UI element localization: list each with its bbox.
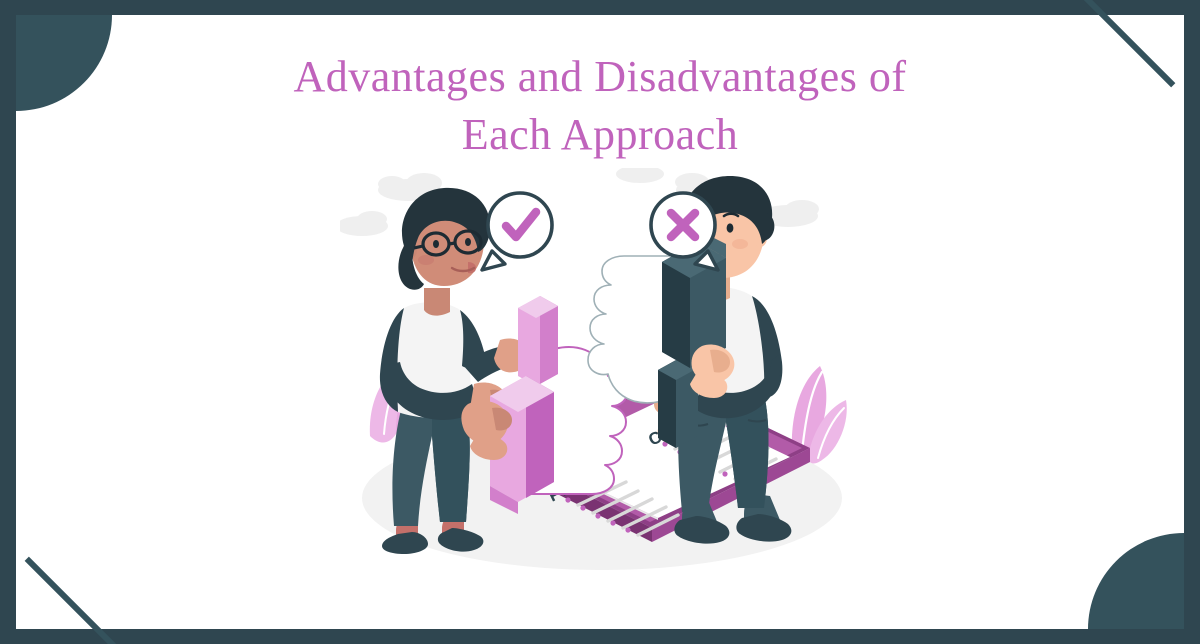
slide-canvas: Advantages and Disadvantages of Each App… — [0, 0, 1200, 644]
corner-arc-bottom-right — [1088, 533, 1184, 629]
pros-and-cons-illustration: PROS CONS — [340, 168, 860, 578]
page-title: Advantages and Disadvantages of Each App… — [0, 48, 1200, 164]
page-title-line-1: Advantages and Disadvantages of — [0, 48, 1200, 106]
check-speech-bubble — [482, 193, 552, 270]
cloud-icon-5 — [616, 168, 664, 183]
frame-border-bottom — [0, 629, 1200, 644]
frame-border-top — [0, 0, 1200, 15]
cloud-icon-2 — [340, 211, 388, 236]
page-title-line-2: Each Approach — [0, 106, 1200, 164]
